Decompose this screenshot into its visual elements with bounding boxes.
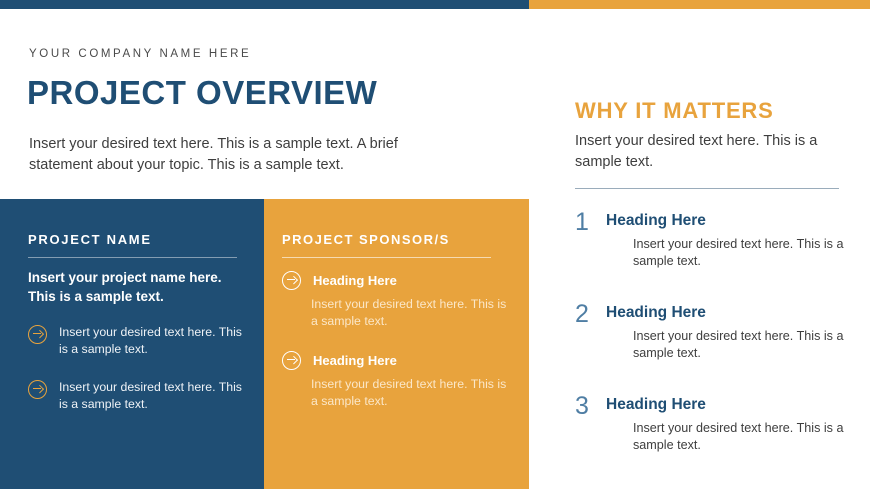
- list-item-body: Insert your desired text here. This is a…: [311, 296, 512, 330]
- list-item-header: Heading Here: [282, 271, 512, 290]
- list-item-heading: Heading Here: [606, 212, 845, 230]
- why-it-matters-title: WHY IT MATTERS: [575, 98, 774, 124]
- project-sponsor-heading: PROJECT SPONSOR/S: [282, 232, 450, 247]
- arrow-right-circle-icon: [282, 351, 301, 370]
- project-name-lead-text: Insert your project name here. This is a…: [28, 268, 241, 306]
- list-item: Heading Here Insert your desired text he…: [282, 351, 512, 410]
- project-sponsor-divider: [282, 257, 491, 258]
- list-item-text: Insert your desired text here. This is a…: [59, 324, 243, 358]
- list-item-body: Insert your desired text here. This is a…: [633, 236, 845, 271]
- arrow-right-circle-icon: [282, 271, 301, 290]
- list-item-number: 2: [575, 300, 589, 329]
- list-item-body: Insert your desired text here. This is a…: [633, 420, 845, 455]
- project-name-divider: [28, 257, 237, 258]
- arrow-right-circle-icon: [28, 380, 47, 399]
- project-sponsor-panel: PROJECT SPONSOR/S Heading Here Insert yo…: [264, 199, 529, 489]
- slide-canvas: YOUR COMPANY NAME HERE PROJECT OVERVIEW …: [0, 0, 870, 489]
- list-item: 2 Heading Here Insert your desired text …: [575, 304, 845, 363]
- list-item-body: Insert your desired text here. This is a…: [311, 376, 512, 410]
- list-item-heading: Heading Here: [313, 273, 397, 288]
- top-accent-bar-navy: [0, 0, 529, 9]
- list-item-heading: Heading Here: [313, 353, 397, 368]
- why-it-matters-divider: [575, 188, 839, 189]
- list-item-number: 1: [575, 208, 589, 237]
- top-accent-bar-orange: [529, 0, 870, 9]
- why-it-matters-subtitle: Insert your desired text here. This is a…: [575, 131, 840, 174]
- list-item: 3 Heading Here Insert your desired text …: [575, 396, 845, 455]
- project-name-heading: PROJECT NAME: [28, 232, 152, 247]
- list-item-body: Insert your desired text here. This is a…: [633, 328, 845, 363]
- list-item-header: Heading Here: [282, 351, 512, 370]
- list-item-number: 3: [575, 392, 589, 421]
- project-name-panel: PROJECT NAME Insert your project name he…: [0, 199, 264, 489]
- list-item: Insert your desired text here. This is a…: [28, 379, 243, 413]
- list-item: Insert your desired text here. This is a…: [28, 324, 243, 358]
- intro-paragraph: Insert your desired text here. This is a…: [29, 134, 459, 176]
- list-item-heading: Heading Here: [606, 396, 845, 414]
- page-title: PROJECT OVERVIEW: [27, 74, 377, 112]
- list-item-heading: Heading Here: [606, 304, 845, 322]
- list-item: 1 Heading Here Insert your desired text …: [575, 212, 845, 271]
- company-name-eyebrow: YOUR COMPANY NAME HERE: [29, 48, 251, 60]
- list-item-text: Insert your desired text here. This is a…: [59, 379, 243, 413]
- list-item: Heading Here Insert your desired text he…: [282, 271, 512, 330]
- arrow-right-circle-icon: [28, 325, 47, 344]
